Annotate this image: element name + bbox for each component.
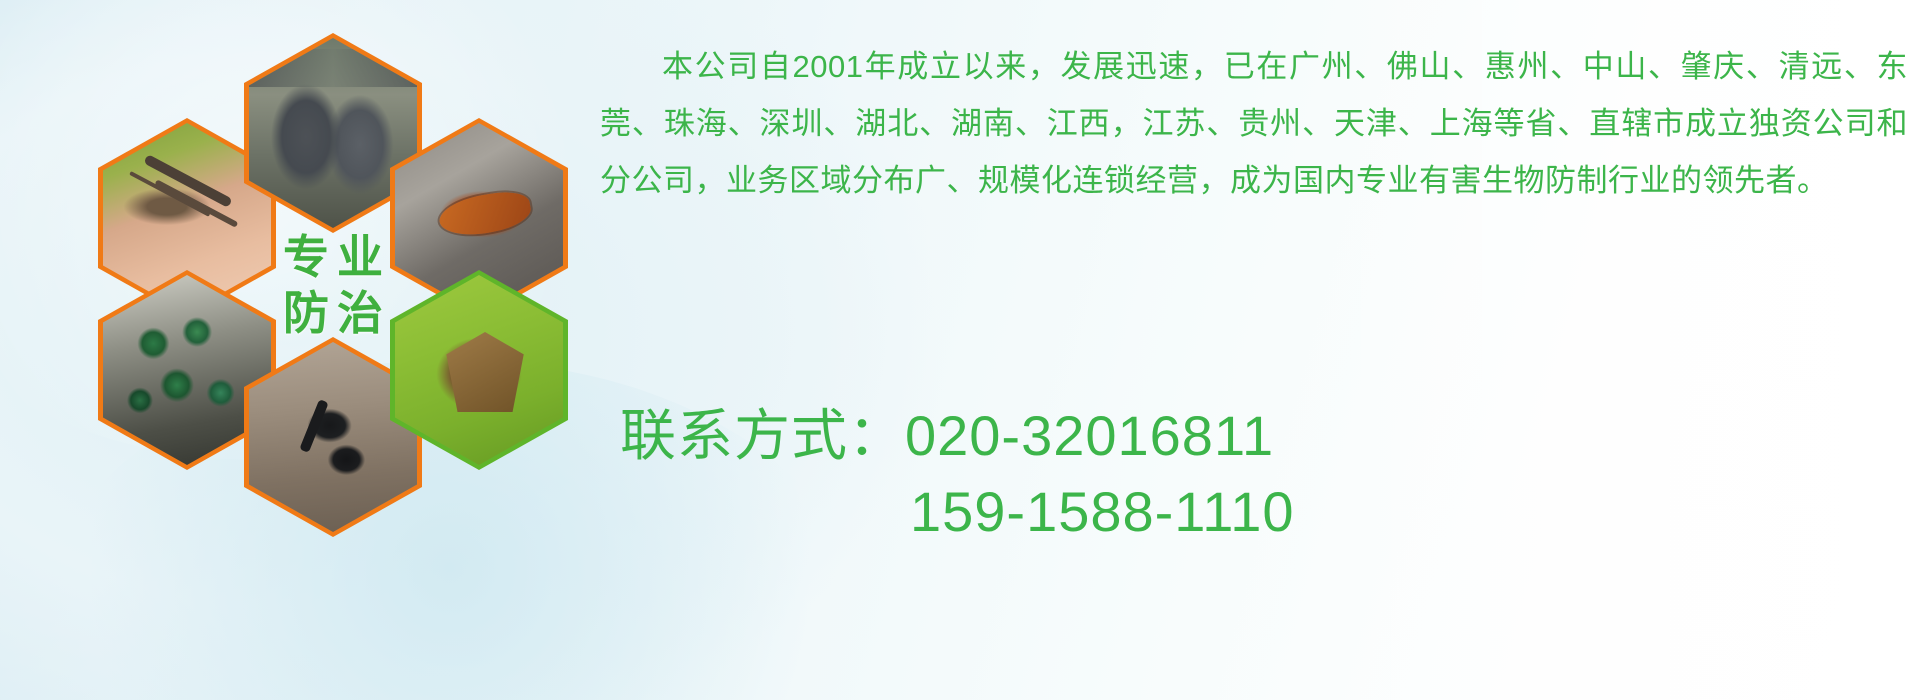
brand-slogan-line-2: 防治 bbox=[275, 290, 391, 336]
contact-block: 联系方式：020-32016811 159-1588-1110 bbox=[620, 398, 1295, 550]
contact-phone-secondary[interactable]: 159-1588-1110 bbox=[910, 480, 1295, 543]
brand-slogan-line-1: 专业 bbox=[275, 234, 391, 280]
contact-secondary-line: 159-1588-1110 bbox=[620, 474, 1295, 550]
contact-primary-line: 联系方式：020-32016811 bbox=[620, 398, 1295, 474]
copy-column: 本公司自2001年成立以来，发展迅速，已在广州、佛山、惠州、中山、肇庆、清远、东… bbox=[600, 38, 1910, 209]
brand-slogan: 专业 防治 bbox=[244, 185, 422, 385]
intro-paragraph: 本公司自2001年成立以来，发展迅速，已在广州、佛山、惠州、中山、肇庆、清远、东… bbox=[600, 38, 1908, 209]
promo-banner: 专业 防治 本公司自2001年成立以来，发展迅速，已在广州、佛山、惠州、中山、肇… bbox=[0, 0, 1920, 700]
hex-photo-cluster: 专业 防治 bbox=[86, 8, 586, 568]
contact-label: 联系方式： bbox=[620, 404, 905, 467]
contact-phone-primary[interactable]: 020-32016811 bbox=[905, 404, 1274, 467]
